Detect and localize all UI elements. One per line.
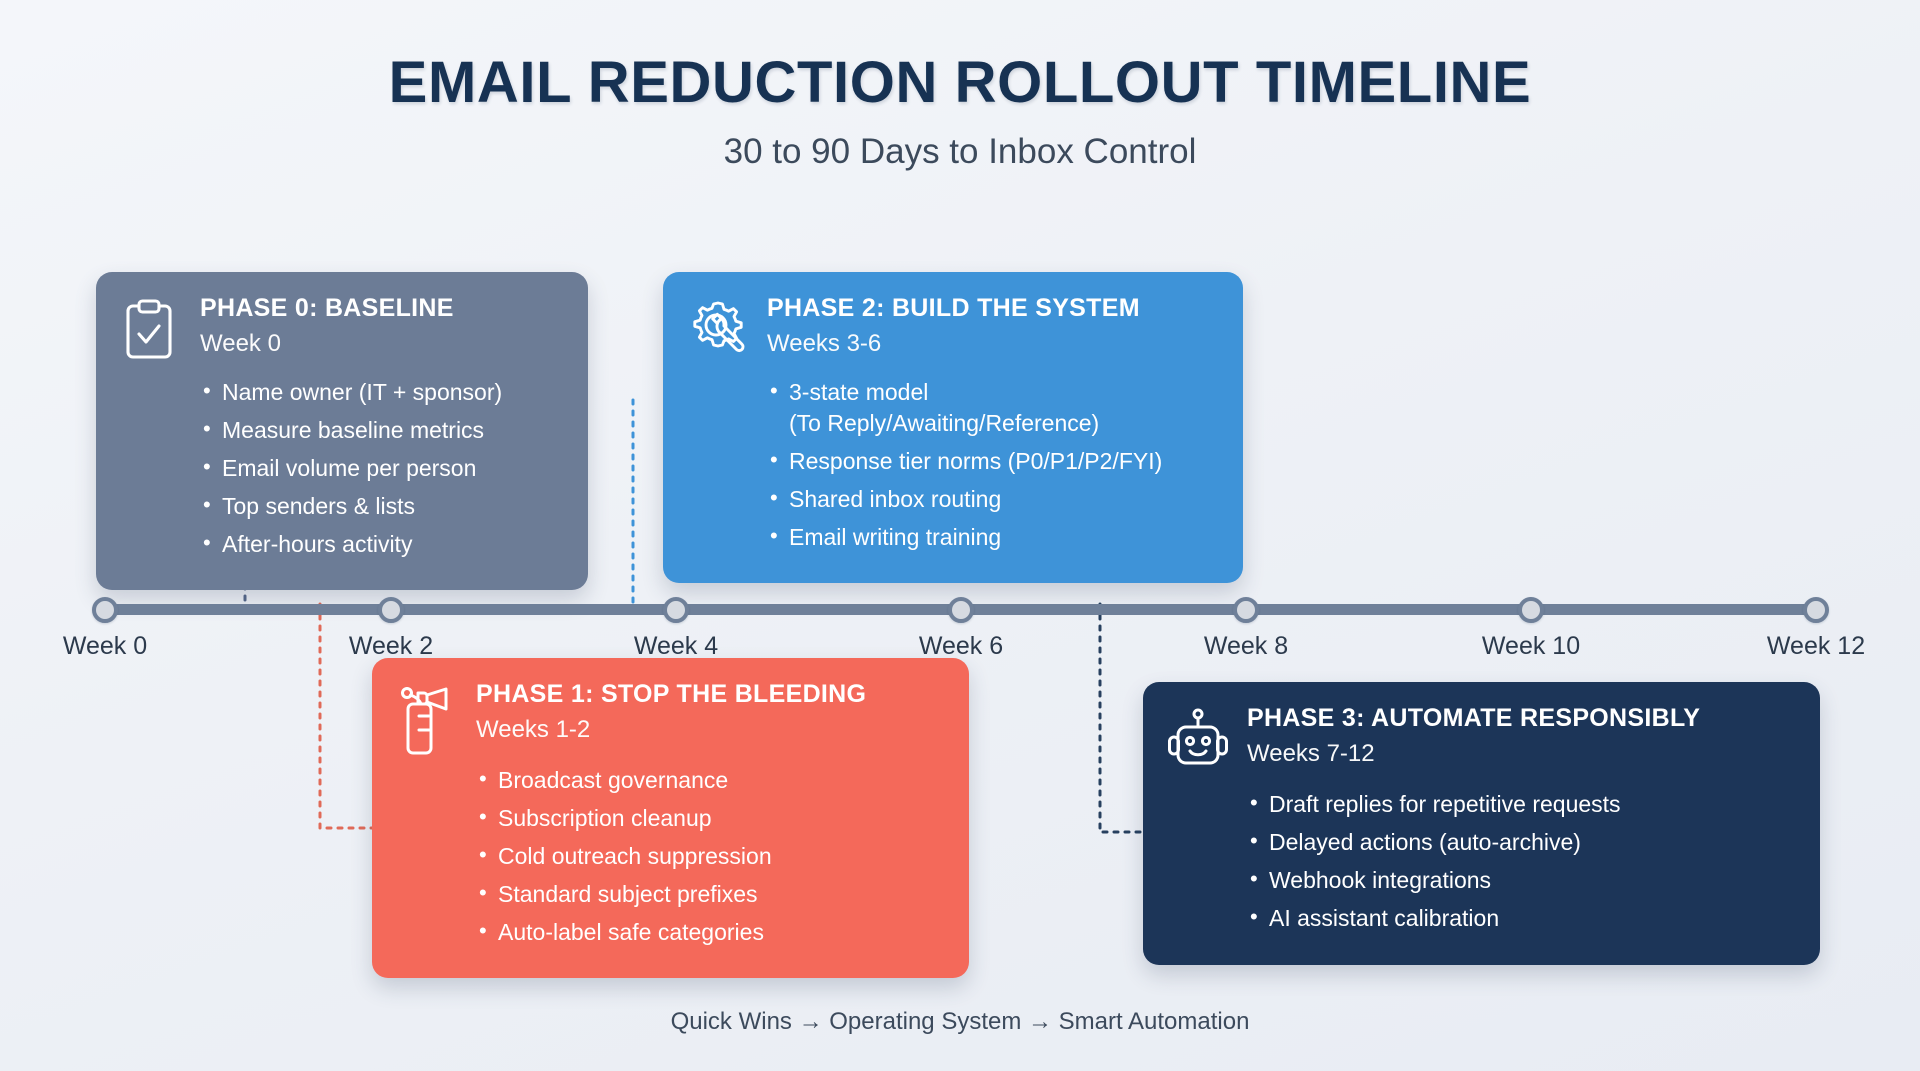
- phase-card-phase1[interactable]: PHASE 1: STOP THE BLEEDING Weeks 1-2 Bro…: [372, 658, 969, 978]
- timeline-node-week-8[interactable]: [1233, 597, 1259, 623]
- list-item: Top senders & lists: [200, 491, 562, 522]
- phase-weeks: Weeks 1-2: [476, 717, 943, 743]
- phase-card-phase3[interactable]: PHASE 3: AUTOMATE RESPONSIBLY Weeks 7-12…: [1143, 682, 1820, 965]
- page-subtitle: 30 to 90 Days to Inbox Control: [0, 133, 1920, 172]
- phase-bullet-list: Name owner (IT + sponsor) Measure baseli…: [200, 377, 562, 559]
- list-item: Shared inbox routing: [767, 484, 1217, 515]
- timeline-label-week-8: Week 8: [1204, 632, 1288, 661]
- phase-card-body: PHASE 2: BUILD THE SYSTEM Weeks 3-6 3-st…: [767, 294, 1217, 559]
- phase-card-body: PHASE 0: BASELINE Week 0 Name owner (IT …: [200, 294, 562, 566]
- fire-extinguisher-icon: [396, 680, 458, 954]
- timeline-node-week-2[interactable]: [378, 597, 404, 623]
- phase-bullet-list: 3-state model (To Reply/Awaiting/Referen…: [767, 377, 1217, 552]
- list-item: Broadcast governance: [476, 765, 943, 796]
- list-item: Auto-label safe categories: [476, 917, 943, 948]
- phase-bullet-list: Broadcast governance Subscription cleanu…: [476, 765, 943, 947]
- phase-title: PHASE 0: BASELINE: [200, 294, 562, 322]
- list-item: Email volume per person: [200, 453, 562, 484]
- header: EMAIL REDUCTION ROLLOUT TIMELINE 30 to 9…: [0, 52, 1920, 172]
- phase-bullet-list: Draft replies for repetitive requests De…: [1247, 789, 1794, 933]
- robot-icon: [1167, 704, 1229, 941]
- phase-card-phase2[interactable]: PHASE 2: BUILD THE SYSTEM Weeks 3-6 3-st…: [663, 272, 1243, 583]
- timeline-label-week-0: Week 0: [63, 632, 147, 661]
- page-title: EMAIL REDUCTION ROLLOUT TIMELINE: [0, 52, 1920, 113]
- timeline-node-week-0[interactable]: [92, 597, 118, 623]
- timeline-label-week-12: Week 12: [1767, 632, 1865, 661]
- timeline-node-week-10[interactable]: [1518, 597, 1544, 623]
- list-item: Email writing training: [767, 522, 1217, 553]
- phase-title: PHASE 1: STOP THE BLEEDING: [476, 680, 943, 708]
- phase-title: PHASE 3: AUTOMATE RESPONSIBLY: [1247, 704, 1794, 732]
- timeline-node-week-12[interactable]: [1803, 597, 1829, 623]
- gear-wrench-icon: [687, 294, 749, 559]
- list-item: Webhook integrations: [1247, 865, 1794, 896]
- phase-card-body: PHASE 3: AUTOMATE RESPONSIBLY Weeks 7-12…: [1247, 704, 1794, 941]
- timeline-node-week-4[interactable]: [663, 597, 689, 623]
- list-item: AI assistant calibration: [1247, 903, 1794, 934]
- list-item: After-hours activity: [200, 529, 562, 560]
- footer-caption: Quick Wins → Operating System → Smart Au…: [0, 1008, 1920, 1036]
- list-item: Name owner (IT + sponsor): [200, 377, 562, 408]
- list-item: Response tier norms (P0/P1/P2/FYI): [767, 446, 1217, 477]
- timeline-label-week-2: Week 2: [349, 632, 433, 661]
- list-item: Standard subject prefixes: [476, 879, 943, 910]
- phase-weeks: Weeks 7-12: [1247, 741, 1794, 767]
- phase-weeks: Weeks 3-6: [767, 331, 1217, 357]
- timeline-label-week-6: Week 6: [919, 632, 1003, 661]
- phase-weeks: Week 0: [200, 331, 562, 357]
- clipboard-check-icon: [120, 294, 182, 566]
- phase-card-body: PHASE 1: STOP THE BLEEDING Weeks 1-2 Bro…: [476, 680, 943, 954]
- timeline-label-week-4: Week 4: [634, 632, 718, 661]
- timeline-axis: Week 0 Week 2 Week 4 Week 6 Week 8 Week …: [0, 590, 1920, 660]
- list-item: Draft replies for repetitive requests: [1247, 789, 1794, 820]
- phase-title: PHASE 2: BUILD THE SYSTEM: [767, 294, 1217, 322]
- list-item: Measure baseline metrics: [200, 415, 562, 446]
- timeline-label-week-10: Week 10: [1482, 632, 1580, 661]
- timeline-node-week-6[interactable]: [948, 597, 974, 623]
- list-item: Delayed actions (auto-archive): [1247, 827, 1794, 858]
- list-item: 3-state model (To Reply/Awaiting/Referen…: [767, 377, 1217, 439]
- phase-card-phase0[interactable]: PHASE 0: BASELINE Week 0 Name owner (IT …: [96, 272, 588, 590]
- list-item: Subscription cleanup: [476, 803, 943, 834]
- list-item: Cold outreach suppression: [476, 841, 943, 872]
